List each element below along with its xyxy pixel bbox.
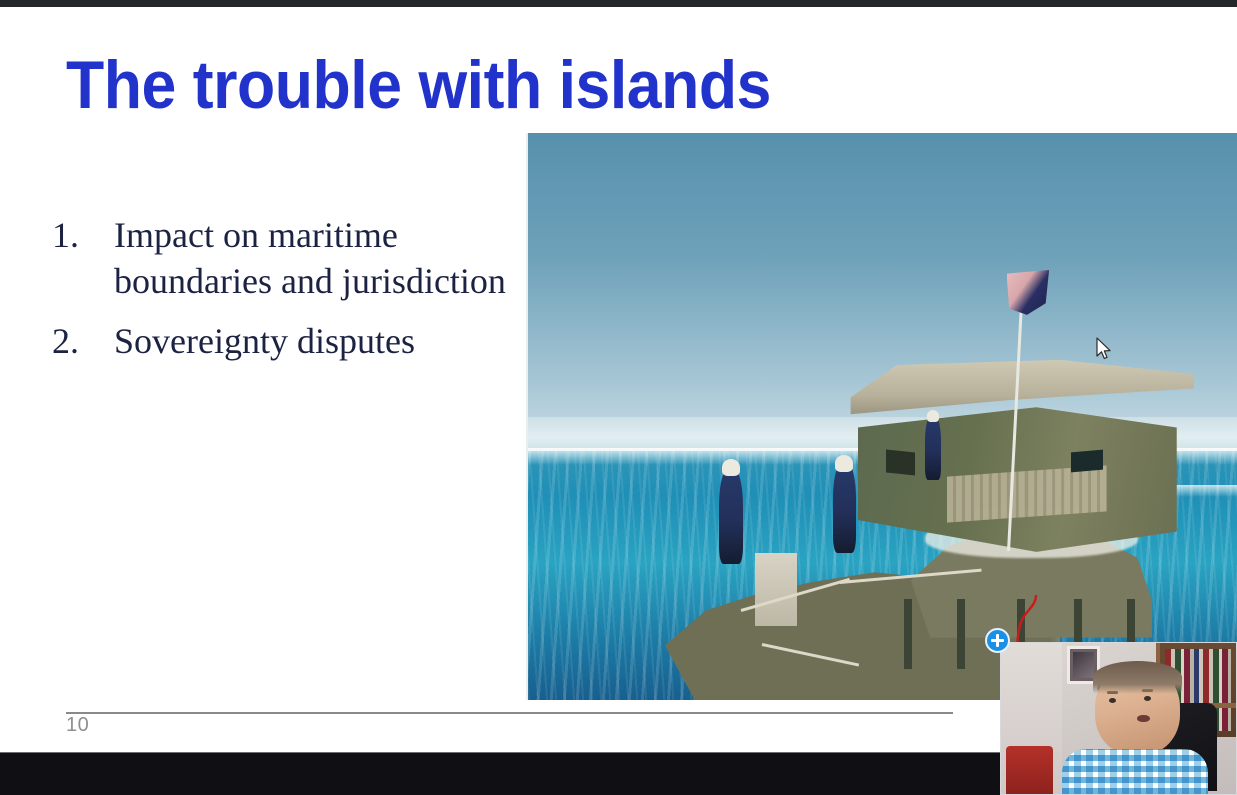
list-item-number: 1. [52, 212, 114, 258]
webcam-lamp [1006, 746, 1053, 794]
window-top-bar [0, 0, 1237, 7]
webcam-mouth [1137, 715, 1150, 722]
photo-figure-on-hut [925, 415, 941, 480]
mouse-pointer-icon [1096, 337, 1112, 361]
list-item-label: Sovereignty disputes [114, 318, 522, 364]
bullet-list: 1. Impact on maritime boundaries and jur… [52, 212, 522, 378]
slide-photo [528, 133, 1237, 700]
photo-hut-window-right [1071, 449, 1103, 472]
photo-figure-left-helmet [722, 459, 740, 476]
webcam-presenter-shirt [1062, 749, 1208, 794]
presenter-video-panel[interactable] [1000, 642, 1237, 795]
add-icon[interactable] [985, 628, 1010, 653]
photo-hut-body [858, 407, 1177, 552]
slide-footer-rule [66, 712, 953, 714]
photo-hut-stilt [904, 599, 912, 669]
list-item-label: Impact on maritime boundaries and jurisd… [114, 212, 522, 304]
photo-stilt-hut [840, 360, 1195, 609]
page-title: The trouble with islands [66, 51, 894, 119]
webcam-presenter-hair [1093, 661, 1182, 694]
photo-figure-on-hut-helmet [927, 410, 939, 422]
slide-number: 10 [66, 714, 89, 737]
photo-hut-stilt [957, 599, 965, 669]
list-item-number: 2. [52, 318, 114, 364]
screen: The trouble with islands 1. Impact on ma… [0, 0, 1237, 795]
webcam-eye [1144, 696, 1151, 701]
presentation-slide: The trouble with islands 1. Impact on ma… [0, 7, 1237, 752]
photo-hut-window-left [886, 449, 915, 475]
photo-figure-left [719, 468, 742, 564]
list-item: 2. Sovereignty disputes [52, 318, 522, 364]
photo-concrete-marker [755, 553, 798, 627]
webcam-eye [1109, 698, 1116, 703]
photo-hut-woven-panel [947, 465, 1107, 522]
list-item: 1. Impact on maritime boundaries and jur… [52, 212, 522, 304]
